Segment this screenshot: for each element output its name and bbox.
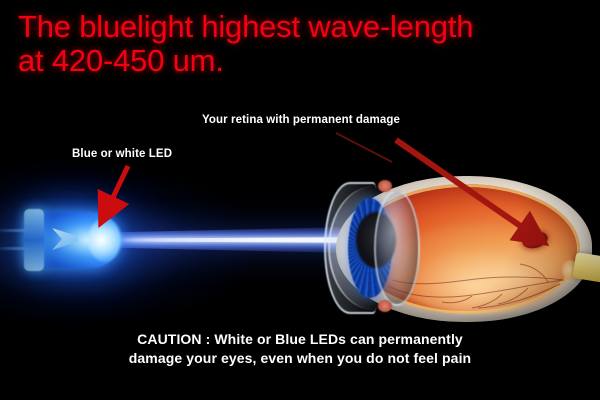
page-title: The bluelight highest wave-length at 420… [18, 10, 588, 78]
infographic-poster: The bluelight highest wave-length at 420… [0, 0, 600, 400]
retina-annotation-label: Your retina with permanent damage [202, 114, 400, 126]
caution-caption: CAUTION : White or Blue LEDs can permane… [0, 330, 600, 368]
led-annotation-label: Blue or white LED [72, 148, 172, 160]
